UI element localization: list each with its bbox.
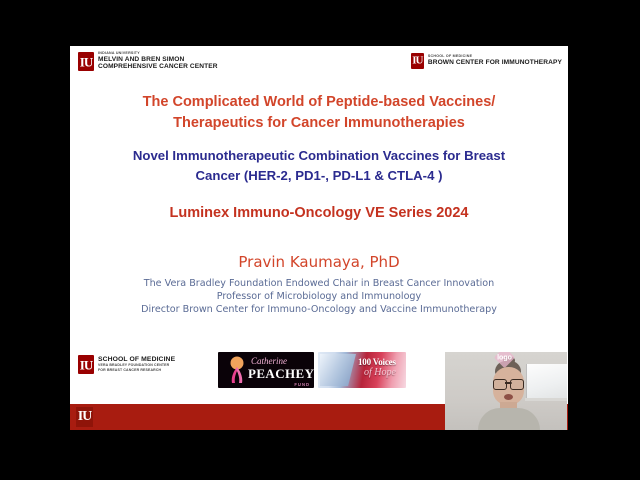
logo-subline-2: FOR BREAST CANCER RESEARCH <box>98 368 175 373</box>
pink-ribbon-icon <box>224 356 250 384</box>
voices-line-2: of Hope <box>364 367 396 378</box>
hundred-voices-of-hope-logo: 100 Voices of Hope <box>318 352 406 388</box>
presenter-glasses-icon <box>493 379 524 388</box>
glasses-left-lens <box>493 379 507 390</box>
iu-trident-icon: IU <box>78 355 94 374</box>
iu-brown-center-immunotherapy-logo: IU SCHOOL OF MEDICINE BROWN CENTER FOR I… <box>411 53 562 69</box>
voices-line-1: 100 Voices <box>358 357 396 367</box>
glasses-right-lens <box>510 379 524 390</box>
presenter-video-thumbnail[interactable]: logo <box>445 352 567 430</box>
slide-subtitle-line-1: Novel Immunotherapeutic Combination Vacc… <box>70 146 568 166</box>
iu-vera-bradley-center-logo: IU SCHOOL OF MEDICINE VERA BRADLEY FOUND… <box>78 355 175 374</box>
speaker-affiliation-1: The Vera Bradley Foundation Endowed Chai… <box>70 278 568 289</box>
video-window-sill <box>525 398 567 401</box>
peachey-script-text: Catherine <box>251 356 287 366</box>
logo-line-2: COMPREHENSIVE CANCER CENTER <box>98 64 218 71</box>
iu-trident-glyph: IU <box>80 55 92 68</box>
logo-line-1: BROWN CENTER FOR IMMUNOTHERAPY <box>428 60 562 67</box>
slide-subtitle: Novel Immunotherapeutic Combination Vacc… <box>70 146 568 186</box>
logo-text-group: SCHOOL OF MEDICINE BROWN CENTER FOR IMMU… <box>428 55 562 67</box>
video-player-stage: IU INDIANA UNIVERSITY MELVIN AND BREN SI… <box>0 0 640 480</box>
peachey-main-text: PEACHEY <box>248 366 314 382</box>
slide-title: The Complicated World of Peptide-based V… <box>70 92 568 134</box>
slide-title-line-1: The Complicated World of Peptide-based V… <box>70 92 568 113</box>
slide-header-logos: IU INDIANA UNIVERSITY MELVIN AND BREN SI… <box>70 46 568 82</box>
iu-trident-icon: IU <box>78 52 94 71</box>
iu-simon-cancer-center-logo: IU INDIANA UNIVERSITY MELVIN AND BREN SI… <box>78 52 218 71</box>
iu-trident-icon: IU <box>411 53 424 69</box>
presenter-shirt <box>478 408 540 430</box>
voices-figures-image <box>320 354 356 386</box>
slide-title-line-2: Therapeutics for Cancer Immunotherapies <box>70 113 568 134</box>
iu-trident-glyph: IU <box>412 56 422 67</box>
iu-trident-glyph: IU <box>78 409 92 425</box>
video-watermark-glyph: logo <box>497 354 512 361</box>
logo-line-1: SCHOOL OF MEDICINE <box>98 356 175 363</box>
speaker-name: Pravin Kaumaya, PhD <box>70 253 568 271</box>
logo-text-group: INDIANA UNIVERSITY MELVIN AND BREN SIMON… <box>98 52 218 71</box>
iu-trident-icon: IU <box>76 407 93 427</box>
slide-subtitle-line-2: Cancer (HER-2, PD1-, PD-L1 & CTLA-4 ) <box>70 166 568 186</box>
peachey-fund-text: FUND <box>294 382 310 387</box>
speaker-affiliation-2: Professor of Microbiology and Immunology <box>70 291 568 302</box>
speaker-affiliation-3: Director Brown Center for Immuno-Oncolog… <box>70 304 568 315</box>
catherine-peachey-fund-logo: Catherine PEACHEY FUND <box>218 352 314 388</box>
iu-trident-glyph: IU <box>80 358 92 371</box>
logo-text-group: SCHOOL OF MEDICINE VERA BRADLEY FOUNDATI… <box>98 356 175 373</box>
presenter-mouth <box>504 394 513 400</box>
video-window-light <box>526 364 567 398</box>
slide-series-line: Luminex Immuno-Oncology VE Series 2024 <box>70 205 568 221</box>
